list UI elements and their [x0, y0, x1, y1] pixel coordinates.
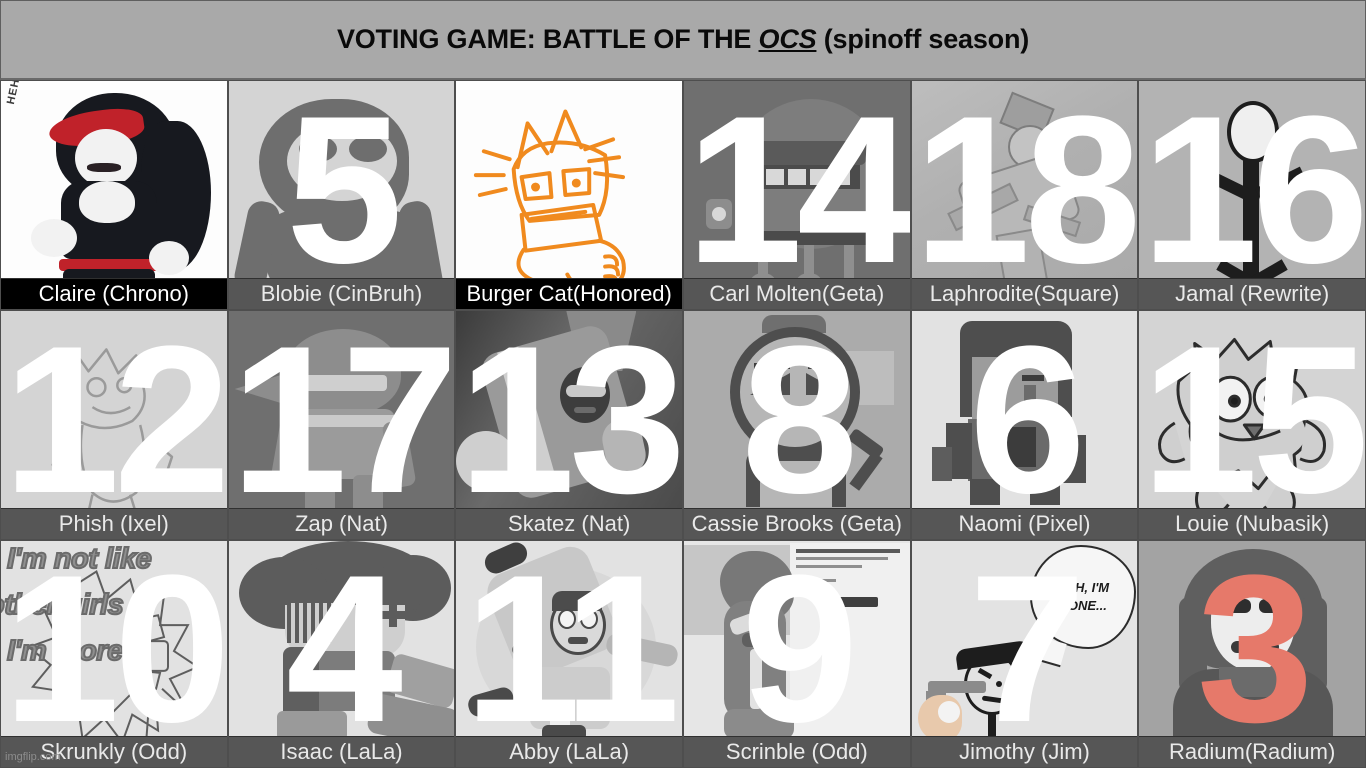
- cell-number: 9: [684, 541, 910, 757]
- cell-caption: Burger Cat(Honored): [456, 278, 682, 309]
- cell-caption: Scrinble (Odd): [684, 736, 910, 767]
- contestant-grid: HEHEGHEEEE Claire (Chrono): [0, 80, 1366, 768]
- grid-cell-laphrodite[interactable]: 18 Laphrodite(Square): [911, 80, 1139, 310]
- grid-cell-abby[interactable]: 11 Abby (LaLa): [455, 540, 683, 768]
- grid-cell-jimothy[interactable]: NAH, I'M DONE... 7 Jimothy (Jim): [911, 540, 1139, 768]
- grid-cell-radium[interactable]: 3 Radium(Radium): [1138, 540, 1366, 768]
- header-bar: VOTING GAME: BATTLE OF THE OCS (spinoff …: [0, 0, 1366, 80]
- cell-number: 11: [456, 541, 682, 757]
- grid-cell-jamal[interactable]: 16 Jamal (Rewrite): [1138, 80, 1366, 310]
- cell-number: 13: [456, 311, 682, 529]
- cell-caption: Naomi (Pixel): [912, 508, 1138, 539]
- cell-number: 14: [684, 81, 910, 299]
- grid-cell-skatez[interactable]: 13 Skatez (Nat): [455, 310, 683, 540]
- cell-number: 10: [1, 541, 227, 757]
- cell-number: 17: [229, 311, 455, 529]
- title-text-emphasis: OCS: [759, 24, 817, 54]
- cell-number: 6: [912, 311, 1138, 529]
- cell-caption: Claire (Chrono): [1, 278, 227, 309]
- cell-caption: Zap (Nat): [229, 508, 455, 539]
- grid-cell-skrunkly[interactable]: I'm not like other girls I'm more 10 Skr…: [0, 540, 228, 768]
- page-title: VOTING GAME: BATTLE OF THE OCS (spinoff …: [337, 24, 1029, 55]
- cell-caption: Jamal (Rewrite): [1139, 278, 1365, 309]
- cell-number: 5: [229, 81, 455, 299]
- cell-number: 15: [1139, 311, 1365, 529]
- cell-caption: Louie (Nubasik): [1139, 508, 1365, 539]
- cell-number: [1, 81, 227, 299]
- cell-caption: Cassie Brooks (Geta): [684, 508, 910, 539]
- cell-number: [456, 81, 682, 299]
- imgflip-watermark: imgflip.com: [5, 751, 61, 763]
- cell-caption: Laphrodite(Square): [912, 278, 1138, 309]
- cell-caption: Phish (Ixel): [1, 508, 227, 539]
- cell-number: 12: [1, 311, 227, 529]
- meme-image: VOTING GAME: BATTLE OF THE OCS (spinoff …: [0, 0, 1366, 768]
- cell-number: 16: [1139, 81, 1365, 299]
- cell-caption: Isaac (LaLa): [229, 736, 455, 767]
- title-text-before: VOTING GAME: BATTLE OF THE: [337, 24, 759, 54]
- cell-number: 18: [912, 81, 1138, 299]
- cell-caption: Blobie (CinBruh): [229, 278, 455, 309]
- cell-number: 4: [229, 541, 455, 757]
- grid-cell-louie[interactable]: 15 Louie (Nubasik): [1138, 310, 1366, 540]
- cell-caption: Abby (LaLa): [456, 736, 682, 767]
- cell-caption: Carl Molten(Geta): [684, 278, 910, 309]
- grid-cell-isaac[interactable]: 4 4 Isaac (LaLa): [228, 540, 456, 768]
- grid-cell-scrinble[interactable]: 9 Scrinble (Odd): [683, 540, 911, 768]
- cell-number: 8: [684, 311, 910, 529]
- cell-number: 3: [1139, 541, 1365, 757]
- cell-caption: Radium(Radium): [1139, 736, 1365, 767]
- grid-cell-claire[interactable]: HEHEGHEEEE Claire (Chrono): [0, 80, 228, 310]
- cell-caption: Skatez (Nat): [456, 508, 682, 539]
- cell-caption: Jimothy (Jim): [912, 736, 1138, 767]
- cell-number: 7: [912, 541, 1138, 757]
- grid-cell-blobie[interactable]: 5 Blobie (CinBruh): [228, 80, 456, 310]
- title-text-after: (spinoff season): [816, 24, 1029, 54]
- grid-cell-cassie-brooks[interactable]: 8 Cassie Brooks (Geta): [683, 310, 911, 540]
- grid-cell-carl-molten[interactable]: 14 Carl Molten(Geta): [683, 80, 911, 310]
- grid-cell-phish[interactable]: 12 Phish (Ixel): [0, 310, 228, 540]
- grid-cell-burger-cat[interactable]: Burger Cat(Honored): [455, 80, 683, 310]
- grid-cell-zap[interactable]: 17 Zap (Nat): [228, 310, 456, 540]
- grid-cell-naomi[interactable]: 6 Naomi (Pixel): [911, 310, 1139, 540]
